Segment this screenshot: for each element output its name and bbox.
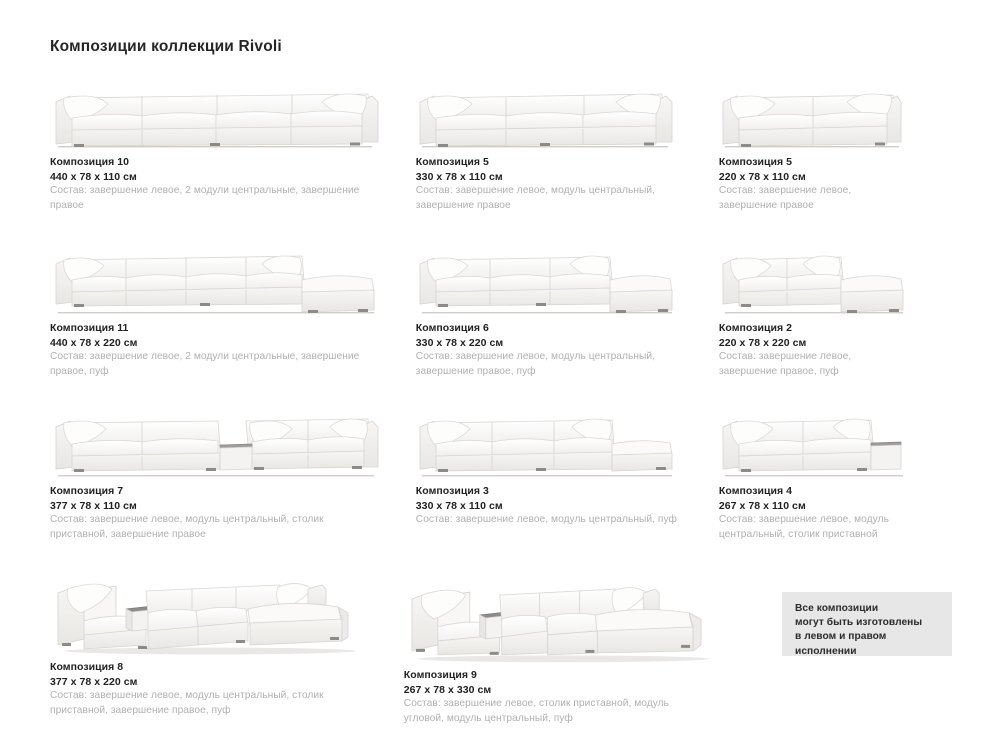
composition-description: Состав: завершение левое, модуль централ… [416,513,705,528]
composition-figure [50,405,402,481]
composition-name: Композиция 5 [416,155,705,170]
composition-card[interactable]: Композиция 9 267 x 78 x 330 см Состав: з… [404,565,727,726]
composition-description: Состав: завершение левое, модуль централ… [719,513,909,542]
sofa-3-module-flat-icon [416,405,678,481]
composition-name: Композиция 3 [416,484,705,499]
sofa-corner-l-shape-perspective-icon [404,565,713,665]
composition-name: Композиция 4 [719,484,950,499]
composition-name: Композиция 5 [719,155,950,170]
compositions-row: Композиция 7 377 x 78 x 110 см Состав: з… [0,405,1000,565]
composition-figure [50,242,402,318]
composition-caption: Композиция 7 377 x 78 x 110 см Состав: з… [50,484,402,542]
composition-dimensions: 267 x 78 x 330 см [404,683,713,698]
sofa-3-module-with-ottoman-icon [416,242,678,318]
sofa-3-module-straight-icon [416,74,674,152]
composition-figure [50,565,390,657]
composition-card[interactable]: Композиция 5 220 x 78 x 110 см Состав: з… [719,74,950,213]
composition-figure [416,242,705,318]
composition-card[interactable]: Композиция 7 377 x 78 x 110 см Состав: з… [50,405,416,542]
composition-caption: Композиция 2 220 x 78 x 220 см Состав: з… [719,321,950,379]
composition-figure [719,74,950,152]
composition-figure [50,74,402,152]
composition-dimensions: 377 x 78 x 220 см [50,675,390,690]
composition-dimensions: 330 x 78 x 110 см [416,499,705,514]
composition-card[interactable]: Композиция 11 440 x 78 x 220 см Состав: … [50,242,416,379]
composition-dimensions: 440 x 78 x 110 см [50,170,402,185]
composition-caption: Композиция 4 267 x 78 x 110 см Состав: з… [719,484,950,542]
composition-description: Состав: завершение левое, модуль централ… [416,184,705,213]
composition-description: Состав: завершение левое, 2 модули центр… [50,350,380,379]
sofa-2-module-with-ottoman-icon [719,242,909,318]
catalog-page: Композиции коллекции Rivoli [0,0,1000,750]
composition-dimensions: 220 x 78 x 220 см [719,336,950,351]
composition-figure [416,405,705,481]
compositions-row: Композиция 10 440 x 78 x 110 см Состав: … [0,74,1000,242]
composition-caption: Композиция 5 220 x 78 x 110 см Состав: з… [719,155,950,213]
composition-caption: Композиция 9 267 x 78 x 330 см Состав: з… [404,668,713,726]
composition-description: Состав: завершение левое, столик пристав… [404,697,704,726]
composition-name: Композиция 2 [719,321,950,336]
composition-name: Композиция 10 [50,155,402,170]
composition-card[interactable]: Композиция 5 330 x 78 x 110 см Состав: з… [416,74,719,213]
composition-name: Композиция 7 [50,484,402,499]
composition-dimensions: 377 x 78 x 110 см [50,499,402,514]
composition-figure [404,565,713,665]
composition-dimensions: 220 x 78 x 110 см [719,170,950,185]
composition-name: Композиция 6 [416,321,705,336]
composition-description: Состав: завершение левое, модуль централ… [50,513,380,542]
composition-dimensions: 440 x 78 x 220 см [50,336,402,351]
composition-dimensions: 330 x 78 x 110 см [416,170,705,185]
composition-figure [416,74,705,152]
sofa-with-side-table-mid-icon [50,405,382,481]
compositions-row: Композиция 11 440 x 78 x 220 см Состав: … [0,242,1000,405]
composition-card[interactable]: Композиция 4 267 x 78 x 110 см Состав: з… [719,405,950,542]
composition-card[interactable]: Композиция 10 440 x 78 x 110 см Состав: … [50,74,416,213]
composition-caption: Композиция 10 440 x 78 x 110 см Состав: … [50,155,402,213]
composition-description: Состав: завершение левое, модуль централ… [416,350,705,379]
composition-description: Состав: завершение левое, завершение пра… [719,184,909,213]
composition-dimensions: 330 x 78 x 220 см [416,336,705,351]
composition-card[interactable]: Композиция 8 377 x 78 x 220 см Состав: з… [50,565,404,718]
composition-figure [719,242,950,318]
composition-caption: Композиция 3 330 x 78 x 110 см Состав: з… [416,484,705,528]
composition-caption: Композиция 8 377 x 78 x 220 см Состав: з… [50,660,390,718]
composition-caption: Композиция 11 440 x 78 x 220 см Состав: … [50,321,402,379]
composition-card[interactable]: Композиция 6 330 x 78 x 220 см Состав: з… [416,242,719,379]
production-note-text: Все композиции могут быть изготовлены в … [795,602,940,659]
composition-caption: Композиция 5 330 x 78 x 110 см Состав: з… [416,155,705,213]
composition-card[interactable]: Композиция 2 220 x 78 x 220 см Состав: з… [719,242,950,379]
sofa-4-module-straight-icon [50,74,380,152]
page-title: Композиции коллекции Rivoli [50,38,282,56]
sofa-2-module-straight-icon [719,74,905,152]
composition-name: Композиция 8 [50,660,390,675]
sofa-4-module-with-ottoman-icon [50,242,382,318]
composition-dimensions: 267 x 78 x 110 см [719,499,950,514]
sofa-corner-table-ottoman-perspective-icon [50,565,360,657]
production-note-box: Все композиции могут быть изготовлены в … [782,592,952,656]
composition-description: Состав: завершение левое, 2 модули центр… [50,184,380,213]
composition-description: Состав: завершение левое, модуль централ… [50,689,380,718]
composition-caption: Композиция 6 330 x 78 x 220 см Состав: з… [416,321,705,379]
sofa-with-side-table-right-icon [719,405,909,481]
composition-name: Композиция 9 [404,668,713,683]
composition-card[interactable]: Композиция 3 330 x 78 x 110 см Состав: з… [416,405,719,528]
composition-description: Состав: завершение левое, завершение пра… [719,350,909,379]
composition-figure [719,405,950,481]
composition-name: Композиция 11 [50,321,402,336]
